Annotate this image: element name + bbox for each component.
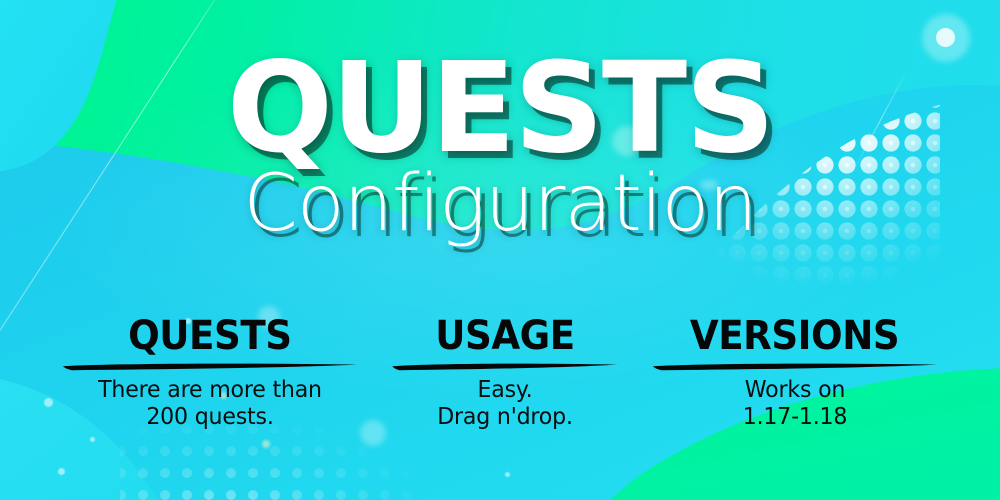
banner-title: QUESTS: [0, 46, 1000, 171]
feature-line: Drag n'drop.: [395, 404, 616, 431]
feature-column-quests: QUESTS There are more than 200 quests.: [60, 316, 360, 431]
feature-body-usage: Easy. Drag n'drop.: [395, 377, 616, 431]
feature-heading-quests: QUESTS: [128, 316, 291, 361]
feature-column-versions: VERSIONS Works on 1.17-1.18: [650, 316, 940, 431]
feature-line: 200 quests.: [66, 404, 354, 431]
feature-column-usage: USAGE Easy. Drag n'drop.: [390, 316, 620, 431]
brush-underline-icon: [60, 362, 360, 371]
feature-columns: QUESTS There are more than 200 quests. U…: [60, 316, 940, 431]
banner-content: QUESTS Configuration QUESTS There are mo…: [0, 0, 1000, 500]
feature-line: 1.17-1.18: [656, 404, 934, 431]
title-block: QUESTS Configuration: [0, 46, 1000, 243]
feature-body-versions: Works on 1.17-1.18: [656, 377, 934, 431]
brush-underline-icon: [650, 362, 940, 371]
feature-line: Works on: [656, 377, 934, 404]
banner-subtitle: Configuration: [0, 165, 1000, 243]
feature-body-quests: There are more than 200 quests.: [66, 377, 354, 431]
feature-line: There are more than: [66, 377, 354, 404]
feature-heading-versions: VERSIONS: [690, 316, 899, 361]
brush-underline-icon: [390, 362, 620, 371]
feature-line: Easy.: [395, 377, 616, 404]
feature-heading-usage: USAGE: [435, 316, 574, 361]
quests-configuration-banner: QUESTS Configuration QUESTS There are mo…: [0, 0, 1000, 500]
